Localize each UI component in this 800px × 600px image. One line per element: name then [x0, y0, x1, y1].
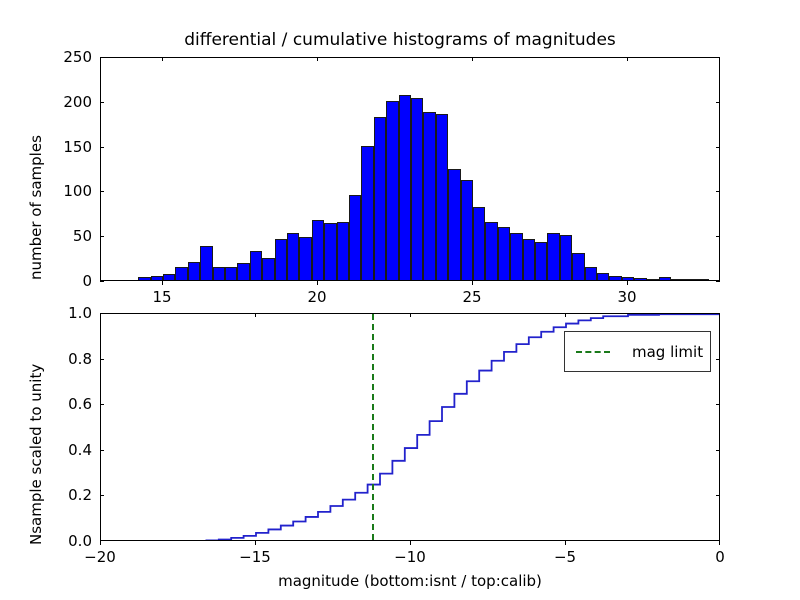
histogram-bar — [423, 112, 435, 280]
histogram-y-tick-label: 50 — [73, 227, 92, 245]
histogram-bar — [461, 180, 473, 280]
histogram-y-tick — [716, 281, 720, 282]
cumulative-y-tick-label: 0.0 — [68, 532, 92, 550]
histogram-bar — [237, 263, 249, 280]
histogram-bar — [523, 239, 535, 280]
histogram-bar — [262, 258, 274, 280]
cumulative-x-tick-label: −10 — [394, 548, 426, 566]
cumulative-y-tick — [100, 495, 104, 496]
cumulative-x-tick — [410, 541, 411, 545]
cumulative-y-tick — [716, 404, 720, 405]
histogram-bar — [275, 239, 287, 280]
histogram-bar — [151, 276, 163, 280]
cumulative-x-tick — [255, 541, 256, 545]
histogram-y-tick — [100, 236, 104, 237]
cumulative-plot-area: mag limit — [101, 314, 719, 540]
histogram-bar — [485, 222, 497, 280]
histogram-bar — [684, 279, 696, 280]
cumulative-x-tick-label: −5 — [554, 548, 576, 566]
histogram-bar — [622, 277, 634, 280]
histogram-y-tick-label: 150 — [63, 138, 92, 156]
histogram-x-tick-label: 30 — [617, 288, 636, 306]
cumulative-y-tick — [716, 540, 720, 541]
cumulative-y-tick-label: 0.8 — [68, 350, 92, 368]
histogram-bar — [609, 276, 621, 280]
histogram-plot-area — [101, 58, 719, 280]
histogram-bar — [436, 114, 448, 280]
cumulative-x-tick — [100, 541, 101, 545]
histogram-bar — [498, 227, 510, 280]
histogram-bar — [671, 279, 683, 280]
histogram-y-tick-label: 200 — [63, 93, 92, 111]
cumulative-x-tick — [719, 541, 720, 545]
histogram-bar — [659, 277, 671, 280]
histogram-y-tick — [716, 102, 720, 103]
histogram-bar — [200, 246, 212, 280]
histogram-y-tick-label: 100 — [63, 182, 92, 200]
cumulative-x-axis-label: magnitude (bottom:isnt / top:calib) — [278, 572, 542, 590]
histogram-x-tick — [317, 281, 318, 285]
cumulative-y-axis-label: Nsample scaled to unity — [27, 364, 45, 545]
histogram-bar — [349, 195, 361, 280]
figure-canvas: differential / cumulative histograms of … — [0, 0, 800, 600]
histogram-bar — [299, 237, 311, 280]
histogram-x-tick — [162, 281, 163, 285]
cumulative-x-tick-label: −20 — [84, 548, 116, 566]
histogram-x-tick — [317, 57, 318, 61]
figure-title: differential / cumulative histograms of … — [184, 30, 616, 50]
cumulative-y-tick — [716, 450, 720, 451]
histogram-x-tick-label: 25 — [462, 288, 481, 306]
cumulative-y-tick-label: 0.4 — [68, 441, 92, 459]
histogram-bar — [163, 274, 175, 280]
histogram-bar — [572, 253, 584, 280]
cumulative-x-tick — [255, 313, 256, 317]
histogram-y-tick — [100, 281, 104, 282]
legend-box[interactable]: mag limit — [564, 331, 711, 372]
histogram-bar — [386, 101, 398, 280]
histogram-y-tick — [100, 102, 104, 103]
histogram-bar — [560, 235, 572, 280]
cumulative-y-tick — [100, 450, 104, 451]
cumulative-y-tick-label: 0.2 — [68, 486, 92, 504]
histogram-bar — [585, 267, 597, 280]
histogram-y-tick-label: 0 — [82, 272, 92, 290]
histogram-bar — [250, 251, 262, 280]
cumulative-x-tick-label: −15 — [239, 548, 271, 566]
histogram-bar — [535, 242, 547, 280]
histogram-bar — [647, 279, 659, 280]
histogram-y-tick — [100, 191, 104, 192]
cumulative-y-tick — [100, 313, 104, 314]
legend-mag-limit-swatch-icon — [576, 351, 610, 353]
histogram-bar — [188, 262, 200, 280]
histogram-y-tick — [716, 191, 720, 192]
histogram-bar — [312, 220, 324, 280]
cumulative-y-tick — [716, 359, 720, 360]
cumulative-y-tick — [100, 404, 104, 405]
histogram-bar — [634, 278, 646, 280]
histogram-x-tick — [472, 57, 473, 61]
histogram-x-tick-label: 15 — [152, 288, 171, 306]
histogram-bar — [337, 222, 349, 280]
histogram-axes — [100, 57, 720, 281]
cumulative-x-tick-label: 0 — [715, 548, 725, 566]
cumulative-y-tick — [716, 313, 720, 314]
histogram-bar — [374, 117, 386, 280]
histogram-bar — [175, 267, 187, 280]
histogram-bar — [510, 233, 522, 280]
histogram-y-tick — [716, 57, 720, 58]
cumulative-y-tick-label: 1.0 — [68, 304, 92, 322]
histogram-y-tick — [100, 57, 104, 58]
histogram-y-tick — [100, 147, 104, 148]
cumulative-axes: mag limit — [100, 313, 720, 541]
histogram-y-tick — [716, 147, 720, 148]
cumulative-x-tick — [565, 313, 566, 317]
histogram-bar — [411, 98, 423, 280]
histogram-bar — [138, 277, 150, 280]
histogram-x-tick — [627, 57, 628, 61]
histogram-bar — [597, 273, 609, 280]
cumulative-y-tick — [100, 359, 104, 360]
histogram-x-tick — [627, 281, 628, 285]
histogram-x-tick — [162, 57, 163, 61]
histogram-bar — [547, 233, 559, 280]
cumulative-y-tick-label: 0.6 — [68, 395, 92, 413]
histogram-bar — [287, 233, 299, 280]
histogram-bar — [448, 169, 460, 280]
histogram-y-tick-label: 250 — [63, 48, 92, 66]
cumulative-x-tick — [565, 541, 566, 545]
histogram-bar — [361, 146, 373, 280]
histogram-x-tick — [472, 281, 473, 285]
histogram-bar — [213, 267, 225, 280]
histogram-bar — [324, 223, 336, 280]
histogram-y-tick — [716, 236, 720, 237]
histogram-y-axis-label: number of samples — [27, 135, 45, 280]
legend-mag-limit-label: mag limit — [632, 343, 703, 361]
histogram-bar — [473, 207, 485, 280]
histogram-bar — [696, 279, 708, 280]
cumulative-x-tick — [410, 313, 411, 317]
mag-limit-line — [372, 314, 374, 540]
cumulative-y-tick — [100, 540, 104, 541]
cumulative-y-tick — [716, 495, 720, 496]
histogram-x-tick-label: 20 — [307, 288, 326, 306]
histogram-bar — [225, 267, 237, 280]
histogram-bar — [399, 95, 411, 280]
